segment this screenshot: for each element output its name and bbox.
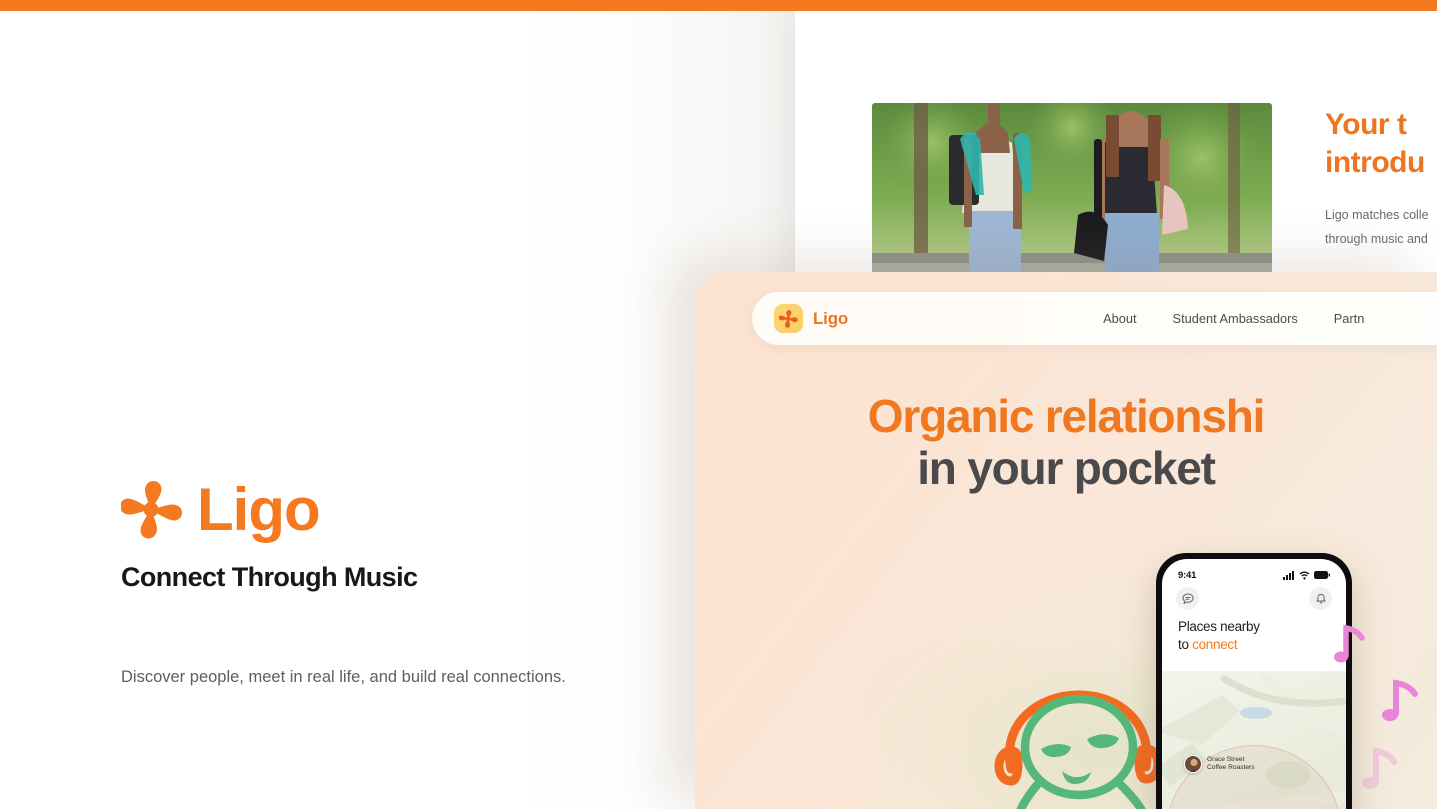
status-time: 9:41 — [1178, 570, 1196, 581]
top-accent-bar — [0, 0, 1437, 11]
wifi-icon — [1299, 571, 1310, 580]
app-preview-card: Ligo About Student Ambassadors Partn Org… — [695, 272, 1437, 809]
ligo-pinwheel-badge-icon — [774, 304, 803, 333]
map-poi-label: Grace Street Coffee Roasters — [1207, 756, 1255, 773]
logo-lockup: Ligo — [121, 480, 721, 540]
hero-heading: Organic relationshi in your pocket — [695, 390, 1437, 495]
navbar-links: About Student Ambassadors Partn — [1103, 311, 1364, 326]
music-note-icon — [1332, 618, 1374, 668]
avatar-pin-icon — [1184, 755, 1202, 773]
bell-icon[interactable] — [1309, 587, 1332, 610]
nav-link-partners[interactable]: Partn — [1334, 311, 1365, 326]
battery-icon — [1314, 571, 1330, 579]
phone-title-line-2-prefix: to — [1178, 637, 1192, 652]
nav-link-about[interactable]: About — [1103, 311, 1136, 326]
map-poi[interactable]: Grace Street Coffee Roasters — [1184, 755, 1255, 773]
person-wearing-headphones-illustration — [991, 685, 1167, 809]
left-panel: Ligo Connect Through Music Discover peop… — [0, 11, 800, 809]
chat-bubble-icon[interactable] — [1176, 587, 1199, 610]
page-tagline: Connect Through Music — [121, 562, 721, 593]
phone-title-line-1: Places nearby — [1178, 619, 1260, 634]
phone-screen-title: Places nearby to connect — [1162, 610, 1346, 654]
brand-block: Ligo Connect Through Music — [121, 480, 721, 593]
music-note-icon — [1380, 672, 1428, 728]
navbar-brand[interactable]: Ligo — [774, 304, 848, 333]
ligo-pinwheel-icon — [121, 481, 183, 539]
site-navbar: Ligo About Student Ambassadors Partn — [752, 292, 1437, 345]
navbar-brand-label: Ligo — [813, 309, 848, 329]
phone-mockup: 9:41 — [1156, 553, 1352, 809]
logo-wordmark: Ligo — [197, 480, 320, 540]
phone-status-bar: 9:41 — [1162, 559, 1346, 585]
signal-icon — [1283, 571, 1295, 580]
phone-map[interactable]: Grace Street Coffee Roasters Coffee — [1162, 671, 1346, 809]
hero-heading-line-1: Organic relationshi — [695, 390, 1437, 442]
phone-header-row — [1162, 585, 1346, 610]
nav-link-student-ambassadors[interactable]: Student Ambassadors — [1173, 311, 1298, 326]
status-icons — [1283, 571, 1330, 580]
music-note-icon — [1360, 740, 1406, 796]
promo-heading: Your t︎ introdu — [1325, 106, 1437, 181]
page-lead-text: Discover people, meet in real life, and … — [121, 664, 591, 691]
phone-screen: 9:41 — [1162, 559, 1346, 809]
phone-title-accent: connect — [1192, 637, 1237, 652]
promo-subtext: Ligo matches colle through music and — [1325, 203, 1437, 252]
promo-copy: Your t︎ introdu Ligo matches colle throu… — [1325, 106, 1437, 252]
hero-heading-line-2: in your pocket — [695, 442, 1437, 494]
